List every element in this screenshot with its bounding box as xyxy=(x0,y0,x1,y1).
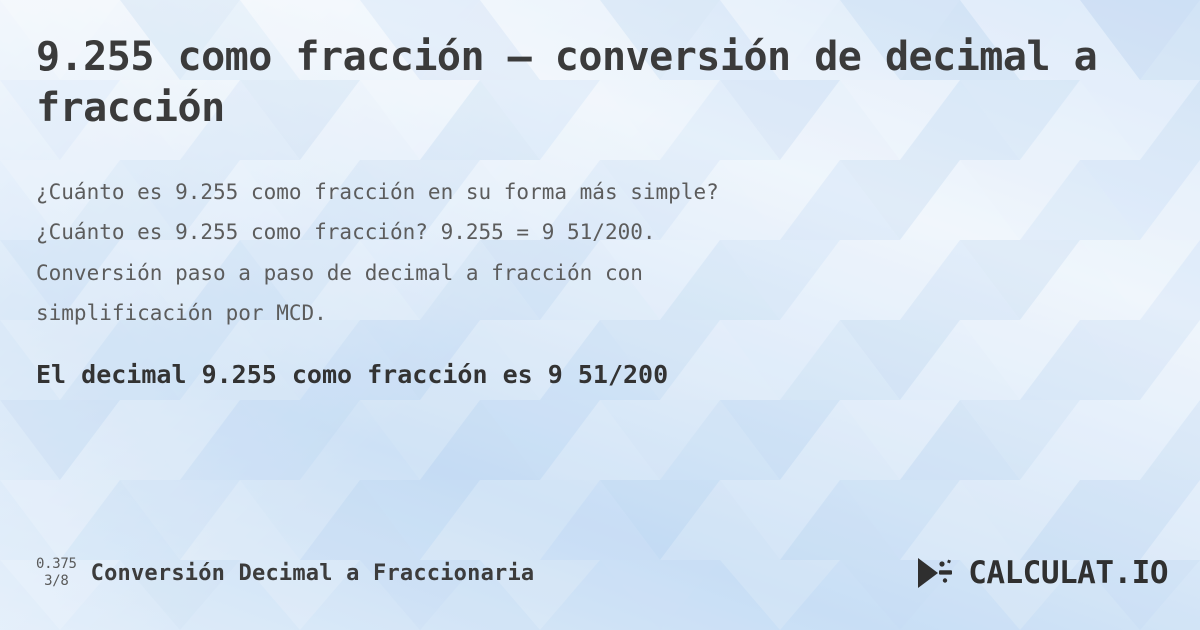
page-content: 9.255 como fracción – conversión de deci… xyxy=(0,0,1200,389)
intro-line-4: simplificación por MCD. xyxy=(36,293,1096,334)
page-intro: ¿Cuánto es 9.255 como fracción en su for… xyxy=(36,172,1096,334)
intro-line-1: ¿Cuánto es 9.255 como fracción en su for… xyxy=(36,172,1096,213)
calculator-logo-icon xyxy=(914,556,960,590)
page-title: 9.255 como fracción – conversión de deci… xyxy=(36,32,1106,134)
brand-name: CALCULAT.IO xyxy=(968,555,1168,591)
brand-logo[interactable]: CALCULAT.IO xyxy=(914,555,1168,591)
intro-line-2: ¿Cuánto es 9.255 como fracción? 9.255 = … xyxy=(36,212,1096,253)
footer-title: Conversión Decimal a Fraccionaria xyxy=(91,561,535,586)
decimal-fraction-badge-icon: 0.375 3/8 xyxy=(36,556,77,591)
answer-statement: El decimal 9.255 como fracción es 9 51/2… xyxy=(36,360,1160,389)
footer-left-group: 0.375 3/8 Conversión Decimal a Fracciona… xyxy=(36,556,534,591)
intro-line-3: Conversión paso a paso de decimal a frac… xyxy=(36,253,1096,294)
badge-fraction-value: 3/8 xyxy=(44,573,68,591)
footer: 0.375 3/8 Conversión Decimal a Fracciona… xyxy=(0,550,1200,596)
badge-decimal-value: 0.375 xyxy=(36,556,77,574)
page-root: 9.255 como fracción – conversión de deci… xyxy=(0,0,1200,630)
